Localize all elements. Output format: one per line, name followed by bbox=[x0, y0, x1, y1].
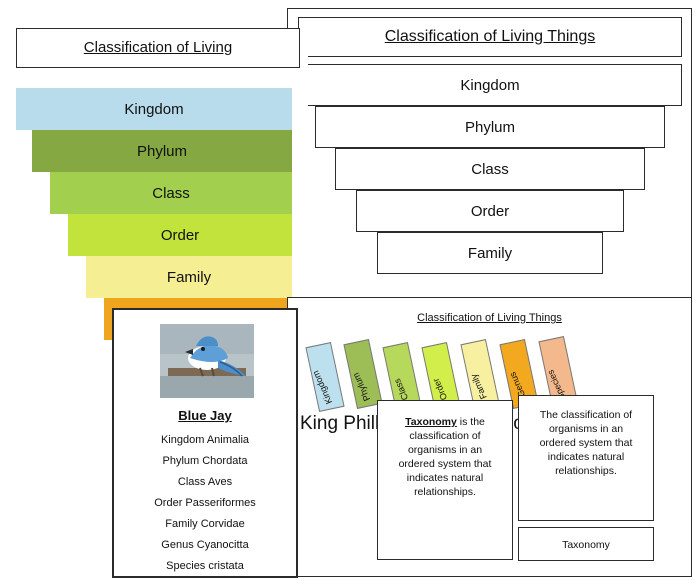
list-item: Genus Cyanocitta bbox=[114, 535, 296, 556]
taxonomy-definition-text: Taxonomy is the classification of organi… bbox=[378, 401, 512, 499]
tilted-bar-label: Phylum bbox=[351, 371, 372, 402]
definition-only-card: The classification of organisms in an or… bbox=[518, 395, 654, 521]
taxonomy-definition-card: Taxonomy is the classification of organi… bbox=[377, 400, 513, 560]
outline-bar-label: Family bbox=[468, 245, 512, 262]
outline-bar-phylum: Phylum bbox=[315, 106, 665, 148]
color-bar-label: Phylum bbox=[137, 143, 187, 160]
color-bar-label: Class bbox=[152, 185, 190, 202]
mnemonic-card-title: Classification of Living Things bbox=[288, 312, 691, 324]
color-bar-label: Family bbox=[167, 269, 211, 286]
color-title: Classification of Living bbox=[17, 39, 299, 56]
outline-bar-label: Phylum bbox=[465, 119, 515, 136]
tilted-bar-family: Family bbox=[460, 339, 499, 409]
tilted-bar-label: Family bbox=[469, 372, 489, 400]
tilted-bar-label: Order bbox=[431, 377, 449, 402]
list-item: Order Passeriformes bbox=[114, 493, 296, 514]
color-bar-order: Order bbox=[68, 214, 292, 256]
tilted-bar-label: Kingdom bbox=[311, 369, 335, 406]
outline-bar-label: Order bbox=[471, 203, 509, 220]
tilted-bar-kingdom: Kingdom bbox=[305, 342, 344, 412]
blue-jay-illustration bbox=[160, 324, 254, 398]
outline-bar-family: Family bbox=[377, 232, 603, 274]
taxonomy-label-card: Taxonomy bbox=[518, 527, 654, 561]
tilted-bar-phylum: Phylum bbox=[343, 339, 382, 409]
outline-title: Classification of Living Things bbox=[299, 28, 681, 46]
classification-color-card: Classification of Living Kingdom Phylum … bbox=[8, 28, 308, 318]
list-item: Phylum Chordata bbox=[114, 451, 296, 472]
blue-jay-card: Blue Jay Kingdom Animalia Phylum Chordat… bbox=[112, 308, 298, 578]
blue-jay-taxonomy-list: Kingdom Animalia Phylum Chordata Class A… bbox=[114, 430, 296, 577]
color-bar-phylum: Phylum bbox=[32, 130, 292, 172]
color-bar-kingdom: Kingdom bbox=[16, 88, 292, 130]
color-bar-family: Family bbox=[86, 256, 292, 298]
taxonomy-definition-body: is the classification of organisms in an… bbox=[399, 416, 492, 498]
color-bar-label: Order bbox=[161, 227, 199, 244]
outline-bar-label: Kingdom bbox=[460, 77, 519, 94]
color-bar-label: Kingdom bbox=[124, 101, 183, 118]
list-item: Class Aves bbox=[114, 472, 296, 493]
outline-bar-class: Class bbox=[335, 148, 645, 190]
outline-bar-order: Order bbox=[356, 190, 624, 232]
outline-bar-label: Class bbox=[471, 161, 509, 178]
tilted-bar-label: Class bbox=[392, 377, 410, 402]
classification-outline-card: Classification of Living Things Kingdom … bbox=[287, 8, 692, 308]
color-title-box: Classification of Living bbox=[16, 28, 300, 68]
color-bar-class: Class bbox=[50, 172, 292, 214]
list-item: Species cristata bbox=[114, 556, 296, 577]
blue-jay-photo bbox=[160, 324, 254, 398]
taxonomy-term: Taxonomy bbox=[405, 416, 457, 428]
outline-title-box: Classification of Living Things bbox=[298, 17, 682, 57]
list-item: Kingdom Animalia bbox=[114, 430, 296, 451]
blue-jay-heading: Blue Jay bbox=[114, 408, 296, 423]
definition-only-text: The classification of organisms in an or… bbox=[519, 396, 653, 478]
outline-bar-kingdom: Kingdom bbox=[298, 64, 682, 106]
taxonomy-label-text: Taxonomy bbox=[519, 528, 653, 562]
list-item: Family Corvidae bbox=[114, 514, 296, 535]
